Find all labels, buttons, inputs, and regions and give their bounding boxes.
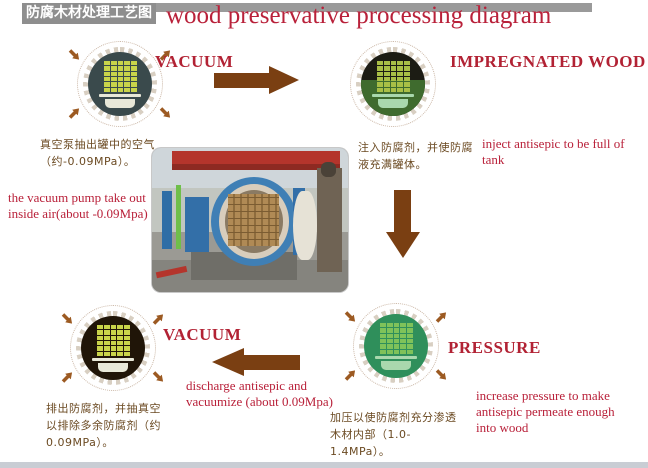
tank-disc-vacuum-2: [81, 316, 145, 380]
page-title: wood preservative processing diagram: [166, 1, 636, 31]
pressure-arrow-in-se: [434, 368, 449, 383]
arrow-left-bottom: [212, 348, 302, 376]
cart-platform: [92, 358, 134, 361]
bottom-edge-bar: [0, 462, 648, 468]
step-2-english-text: inject antisepic to be full of tank: [482, 136, 640, 168]
impregnated-tank-icon: [350, 41, 436, 127]
step-1-chinese-text: 真空泵抽出罐中的空气（约-0.09MPa）。: [40, 136, 165, 170]
vacuum-arrow-out-nw: [67, 48, 82, 63]
step-1-english-text: the vacuum pump take out inside air(abou…: [8, 190, 160, 222]
arrow-down-right: [386, 190, 420, 258]
cart-platform: [99, 94, 141, 97]
vacuum-arrow-out-se: [151, 370, 166, 385]
wood-stack-grid: [380, 323, 413, 354]
tank-disc-pressure: [364, 314, 428, 378]
cart-base: [378, 99, 408, 108]
pressure-arrow-in-sw: [343, 368, 358, 383]
step-3-chinese-text: 加压以使防腐剂充分渗透木材内部（1.0-1.4MPa）。: [330, 409, 464, 460]
stage-label-pressure: PRESSURE: [448, 338, 541, 358]
arrow-right-top: [214, 66, 300, 94]
vacuum-arrow-out-sw: [67, 106, 82, 121]
pressure-tank-icon: [353, 303, 439, 389]
step-4-chinese-text: 排出防腐剂，并抽真空以排除多余防腐剂（约0.09MPa）。: [46, 400, 168, 451]
discharge-tank-icon: [70, 305, 156, 391]
vacuum-tank-icon: [77, 41, 163, 127]
pressure-arrow-in-ne: [434, 310, 449, 325]
stage-label-vacuum-2: VACUUM: [163, 325, 241, 345]
vacuum-arrow-out-sw: [60, 370, 75, 385]
chinese-title-badge: 防腐木材处理工艺图: [22, 3, 156, 24]
wood-stack-grid: [104, 61, 137, 92]
diagram-canvas: 防腐木材处理工艺图 wood preservative processing d…: [0, 0, 648, 468]
cart-platform: [375, 356, 417, 359]
cart-base: [98, 363, 128, 372]
pressure-arrow-in-nw: [343, 310, 358, 325]
cart-base: [105, 99, 135, 108]
tank-disc-vacuum-1: [88, 52, 152, 116]
step-4-english-text: discharge antisepic and vacuumize (about…: [186, 378, 336, 410]
wood-stack-grid: [377, 61, 410, 92]
cart-base: [381, 361, 411, 370]
step-2-chinese-text: 注入防腐剂，并使防腐液充满罐体。: [358, 139, 476, 173]
autoclave-treatment-vessel-photo: [152, 148, 348, 292]
cart-platform: [372, 94, 414, 97]
vacuum-arrow-out-se: [158, 106, 173, 121]
tank-disc-impregnated: [361, 52, 425, 116]
wood-stack-grid: [97, 325, 130, 356]
vacuum-arrow-out-nw: [60, 312, 75, 327]
stage-label-impregnated-wood: IMPREGNATED WOOD: [450, 52, 646, 72]
step-3-english-text: increase pressure to make antisepic perm…: [476, 388, 638, 436]
